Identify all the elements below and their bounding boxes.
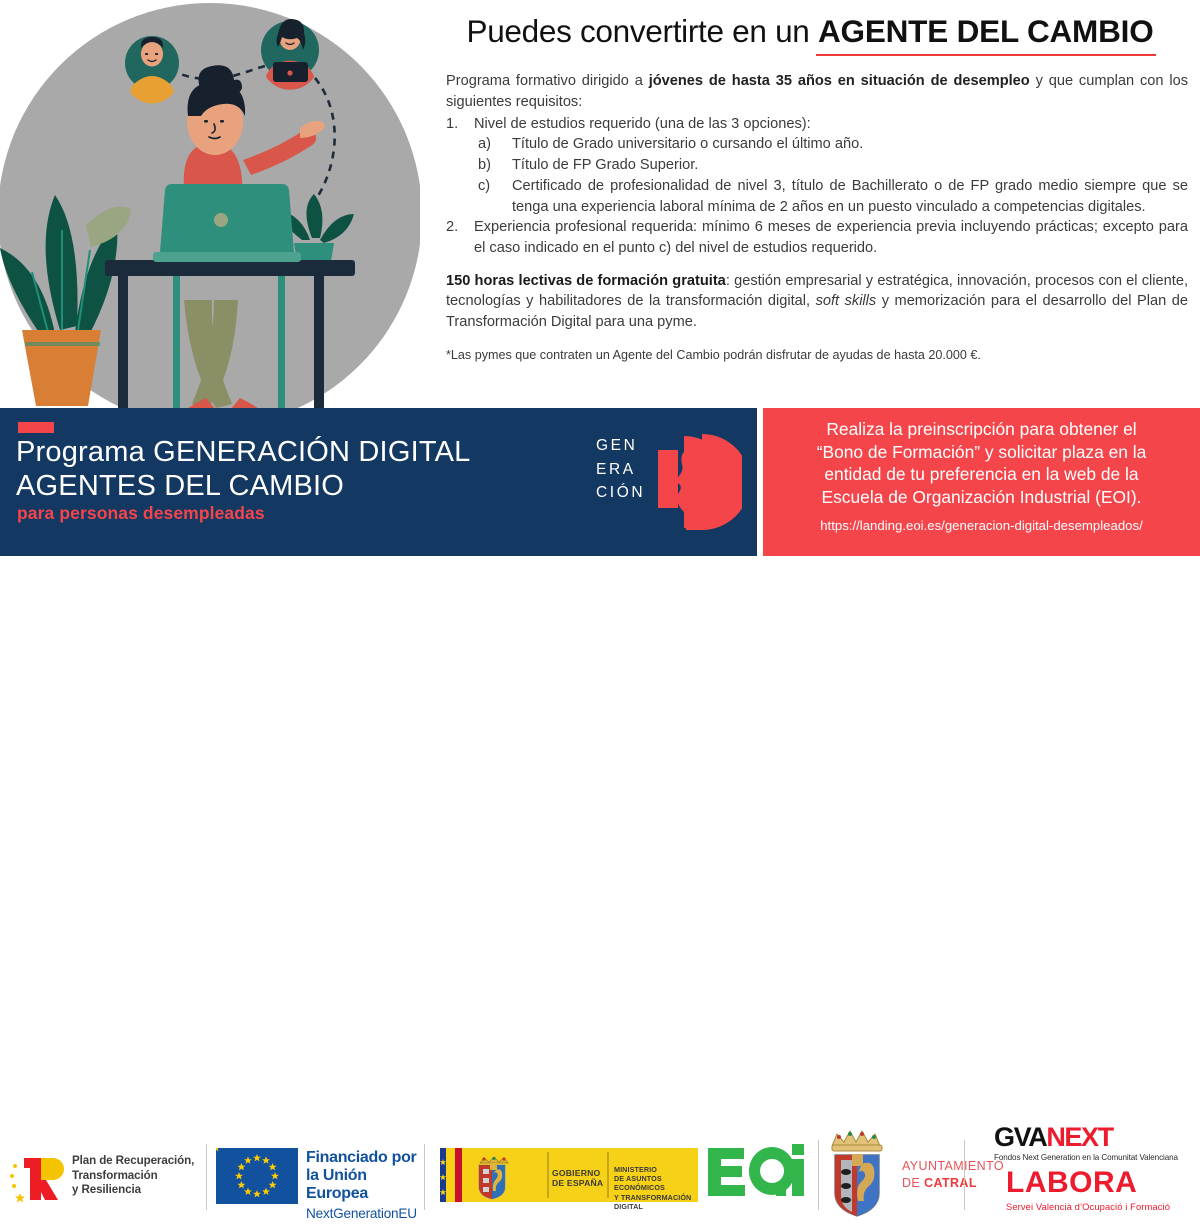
labora-block: LABORA Servei Valencià d’Ocupació i Form… xyxy=(1006,1168,1170,1212)
requirements-list: 1. Nivel de estudios requerido (una de l… xyxy=(432,114,1188,259)
prtr-line-2: Transformación xyxy=(72,1169,194,1184)
logo-plan-recuperacion: Plan de Recuperación, Transformación y R… xyxy=(10,1150,206,1206)
eu-text: Financiado por la Unión Europea NextGene… xyxy=(306,1149,417,1221)
labora-wordmark: LABORA xyxy=(1006,1168,1170,1198)
list-marker: b) xyxy=(478,155,508,176)
cta-line-4: Escuela de Organización Industrial (EOI)… xyxy=(773,486,1190,509)
gvanext-block: GVA NEXT Fondos Next Generation en la Co… xyxy=(994,1124,1178,1162)
list-marker: c) xyxy=(478,176,508,197)
eoi-wordmark-icon xyxy=(704,1142,810,1204)
ministerio-text: MINISTERIO DE ASUNTOS ECONÓMICOS Y TRANS… xyxy=(614,1165,700,1211)
hours-bold: 150 horas lectivas de formación gratuita xyxy=(446,273,726,289)
catral-coat-of-arms-icon xyxy=(824,1124,890,1222)
headline-normal: Puedes convertirte en un xyxy=(466,13,817,49)
logo-gvanext-labora: GVA NEXT Fondos Next Generation en la Co… xyxy=(974,1124,1194,1228)
intro-paragraph: Programa formativo dirigido a jóvenes de… xyxy=(446,71,1188,112)
eu-flag-icon xyxy=(216,1148,298,1204)
list-marker: a) xyxy=(478,134,508,155)
labora-subtitle: Servei Valencià d’Ocupació i Formació xyxy=(1006,1201,1170,1212)
ministerio-line-1: MINISTERIO xyxy=(614,1165,700,1174)
page-title: Puedes convertirte en un AGENTE DEL CAMB… xyxy=(432,14,1188,49)
gvanext-wordmark: GVA NEXT xyxy=(994,1124,1178,1151)
red-dash-accent xyxy=(18,422,54,433)
intro-part1: Programa formativo dirigido a xyxy=(446,73,649,89)
eu-line-3: NextGenerationEU xyxy=(306,1206,417,1221)
cta-line-3: entidad de tu preferencia en la web de l… xyxy=(773,463,1190,486)
logo-gobierno-espana: GOBIERNO DE ESPAÑA MINISTERIO DE ASUNTOS… xyxy=(440,1148,700,1202)
list-text: Nivel de estudios requerido (una de las … xyxy=(474,116,811,132)
list-text: Título de Grado universitario o cursando… xyxy=(512,136,863,152)
banner-subtitle: para personas desempleadas xyxy=(17,503,265,524)
generacion-d-wordmark: GEN ERA CIÓN xyxy=(596,434,645,505)
body-text: Programa formativo dirigido a jóvenes de… xyxy=(432,71,1188,365)
ayuntamiento-de: DE xyxy=(902,1176,924,1190)
illustration-remote-work xyxy=(0,0,420,410)
prtr-line-1: Plan de Recuperación, xyxy=(72,1154,194,1169)
divider xyxy=(964,1140,965,1210)
generacion-line-3: CIÓN xyxy=(596,481,645,505)
eu-line-1: Financiado por xyxy=(306,1149,417,1167)
program-banner: Programa GENERACIÓN DIGITAL AGENTES DEL … xyxy=(0,408,1200,556)
cta-url-link[interactable]: https://landing.eoi.es/generacion-digita… xyxy=(773,518,1190,533)
footnote: *Las pymes que contraten un Agente del C… xyxy=(446,347,1188,365)
footer-logos: Plan de Recuperación, Transformación y R… xyxy=(0,556,1200,675)
prtr-line-3: y Resiliencia xyxy=(72,1183,194,1198)
divider xyxy=(206,1144,207,1210)
banner-title-line2: AGENTES DEL CAMBIO xyxy=(16,470,616,504)
prtr-text: Plan de Recuperación, Transformación y R… xyxy=(72,1154,194,1198)
ayuntamiento-catral: CATRAL xyxy=(924,1176,977,1190)
list-text: Certificado de profesionalidad de nivel … xyxy=(512,178,1188,215)
generacion-line-2: ERA xyxy=(596,458,645,482)
content-column: Puedes convertirte en un AGENTE DEL CAMB… xyxy=(432,14,1188,404)
logo-financiado-union-europea: Financiado por la Unión Europea NextGene… xyxy=(216,1146,416,1208)
poster-root: Puedes convertirte en un AGENTE DEL CAMB… xyxy=(0,0,1200,675)
eu-line-2: la Unión Europea xyxy=(306,1167,417,1203)
ministerio-line-2: DE ASUNTOS ECONÓMICOS xyxy=(614,1174,700,1192)
list-item: 1. Nivel de estudios requerido (una de l… xyxy=(432,114,1188,218)
hours-italic: soft skills xyxy=(816,293,877,309)
list-marker: 2. xyxy=(446,217,472,238)
logo-ayuntamiento-catral: AYUNTAMIENTO DE CATRAL xyxy=(824,1124,964,1224)
list-marker: 1. xyxy=(446,114,472,135)
ministerio-line-3: Y TRANSFORMACIÓN DIGITAL xyxy=(614,1193,700,1211)
prtr-emblem-icon xyxy=(10,1152,68,1204)
generacion-line-1: GEN xyxy=(596,434,645,458)
list-item: a) Título de Grado universitario o cursa… xyxy=(474,134,1188,155)
gobierno-line-1: GOBIERNO xyxy=(552,1168,603,1178)
headline-emphasis: AGENTE DEL CAMBIO xyxy=(818,13,1154,49)
d-face-icon xyxy=(658,432,742,532)
divider xyxy=(424,1144,425,1210)
list-text: Experiencia profesional requerida: mínim… xyxy=(474,219,1188,256)
gva-part2: NEXT xyxy=(1046,1124,1112,1151)
logo-eoi xyxy=(704,1142,810,1206)
gobierno-text: GOBIERNO DE ESPAÑA xyxy=(552,1168,603,1189)
hours-paragraph: 150 horas lectivas de formación gratuita… xyxy=(446,271,1188,333)
gobierno-line-2: DE ESPAÑA xyxy=(552,1178,603,1188)
banner-cta-panel[interactable]: Realiza la preinscripción para obtener e… xyxy=(763,408,1200,556)
list-text: Título de FP Grado Superior. xyxy=(512,157,698,173)
generacion-d-logo: GEN ERA CIÓN xyxy=(596,426,736,538)
cta-line-1: Realiza la preinscripción para obtener e… xyxy=(773,418,1190,441)
banner-title-line1: Programa GENERACIÓN DIGITAL xyxy=(16,436,616,470)
cta-line-2: “Bono de Formación” y solicitar plaza en… xyxy=(773,441,1190,464)
gva-part1: GVA xyxy=(994,1124,1046,1151)
list-item: c) Certificado de profesionalidad de niv… xyxy=(474,176,1188,217)
banner-title: Programa GENERACIÓN DIGITAL AGENTES DEL … xyxy=(16,436,616,503)
list-item: b) Título de FP Grado Superior. xyxy=(474,155,1188,176)
cta-text-block: Realiza la preinscripción para obtener e… xyxy=(763,408,1200,533)
intro-bold: jóvenes de hasta 35 años en situación de… xyxy=(649,73,1030,89)
list-item: 2. Experiencia profesional requerida: mí… xyxy=(432,217,1188,258)
illustration-svg xyxy=(0,0,420,410)
gvanext-subtitle: Fondos Next Generation en la Comunitat V… xyxy=(994,1153,1178,1162)
divider xyxy=(818,1140,819,1210)
banner-blue-panel: Programa GENERACIÓN DIGITAL AGENTES DEL … xyxy=(0,408,757,556)
sub-list: a) Título de Grado universitario o cursa… xyxy=(474,134,1188,217)
